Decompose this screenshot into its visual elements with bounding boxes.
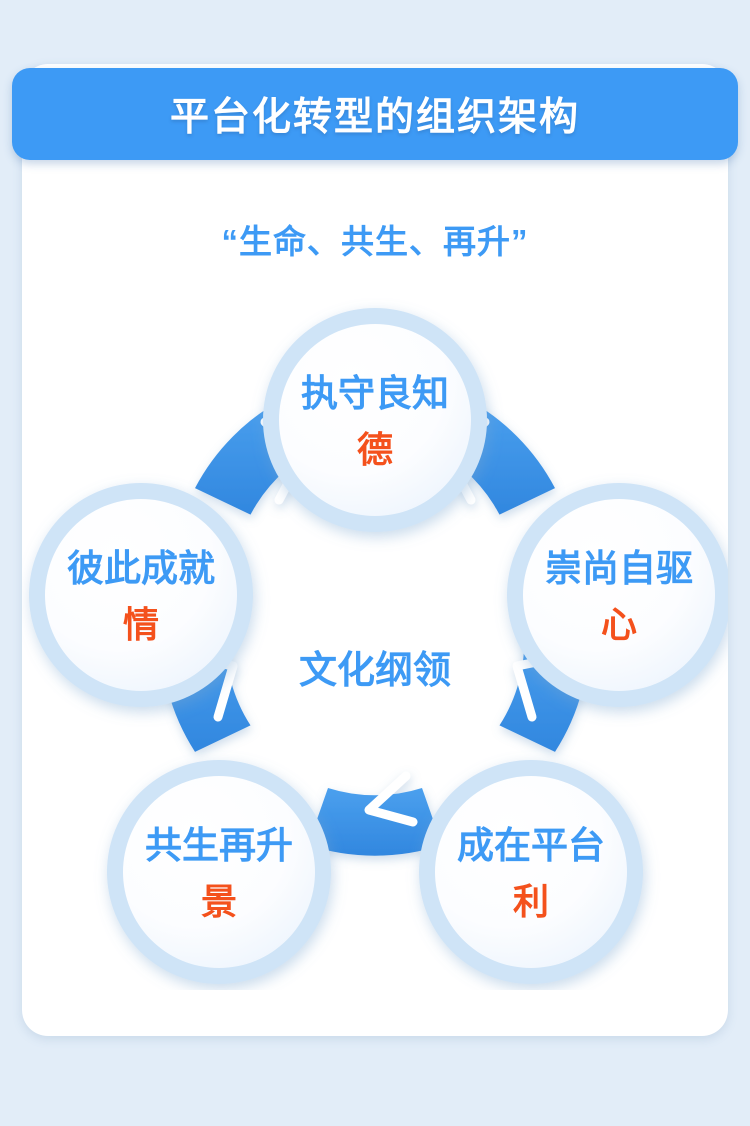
- cycle-center-label: 文化纲领: [299, 650, 451, 692]
- node-disc: [279, 324, 471, 516]
- node-keyword: 情: [123, 604, 159, 645]
- culture-cycle-diagram: 文化纲领 执守良知 德 崇尚自驱 心 成在平台 利 共生再升 景: [22, 290, 728, 990]
- cycle-node-xin[interactable]: 崇尚自驱 心: [507, 483, 728, 707]
- header-banner: 平台化转型的组织架构: [12, 68, 738, 160]
- node-disc: [123, 776, 315, 968]
- node-title: 成在平台: [457, 825, 605, 866]
- node-title: 彼此成就: [67, 548, 215, 589]
- cycle-node-qing[interactable]: 彼此成就 情: [29, 483, 253, 707]
- cycle-node-de[interactable]: 执守良知 德: [263, 308, 487, 532]
- node-title: 执守良知: [301, 372, 449, 414]
- node-disc: [523, 499, 715, 691]
- cycle-node-jing[interactable]: 共生再升 景: [107, 760, 331, 984]
- node-disc: [45, 499, 237, 691]
- node-keyword: 景: [201, 881, 237, 922]
- node-keyword: 德: [357, 429, 393, 470]
- node-disc: [435, 776, 627, 968]
- node-keyword: 利: [513, 881, 549, 922]
- node-title: 崇尚自驱: [545, 548, 693, 589]
- cycle-diagram-svg: 文化纲领 执守良知 德 崇尚自驱 心 成在平台 利 共生再升 景: [22, 290, 728, 990]
- node-title: 共生再升: [145, 825, 293, 866]
- node-keyword: 心: [601, 604, 637, 645]
- subtitle-slogan: “生命、共生、再升”: [0, 215, 750, 263]
- cycle-node-li[interactable]: 成在平台 利: [419, 760, 643, 984]
- connector-arc-li-to-jing: [308, 776, 442, 856]
- page-title: 平台化转型的组织架构: [170, 86, 580, 142]
